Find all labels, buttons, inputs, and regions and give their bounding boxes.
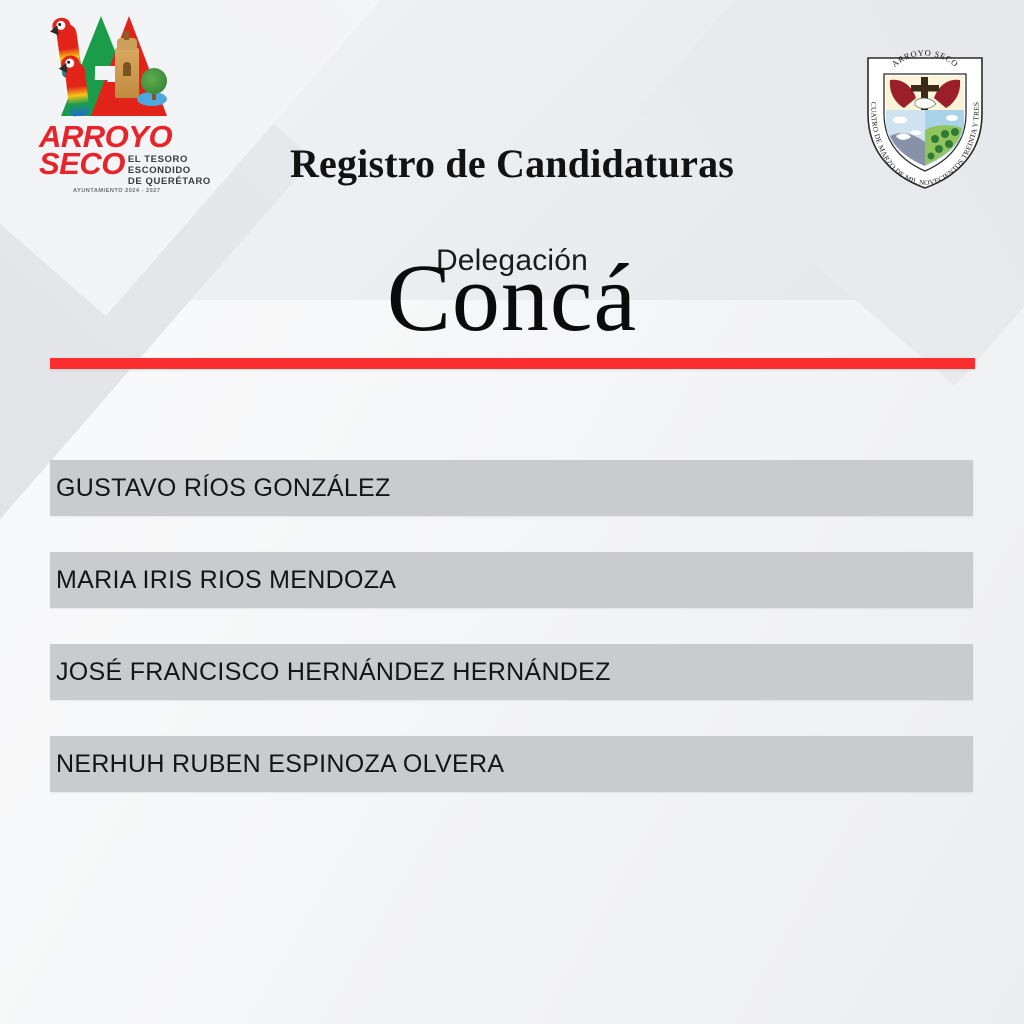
- red-divider: [50, 358, 975, 369]
- logo-administration-period: AYUNTAMIENTO 2024 - 2027: [73, 188, 193, 194]
- list-item: JOSÉ FRANCISCO HERNÁNDEZ HERNÁNDEZ: [50, 644, 973, 700]
- candidature-registry-poster: ARROYO SECO EL TESORO ESCONDIDO DE QUERÉ…: [0, 0, 1024, 1024]
- page-title: Registro de Candidaturas: [0, 140, 1024, 187]
- candidate-name: MARIA IRIS RIOS MENDOZA: [50, 566, 396, 595]
- list-item: NERHUH RUBEN ESPINOZA OLVERA: [50, 736, 973, 792]
- macaw-beak: [58, 63, 67, 74]
- arroyo-seco-a-emblem-icon: [53, 14, 173, 119]
- macaw-beak: [49, 25, 58, 36]
- candidate-name: GUSTAVO RÍOS GONZÁLEZ: [50, 474, 391, 503]
- list-item: MARIA IRIS RIOS MENDOZA: [50, 552, 973, 608]
- delegation-name: Concá: [0, 250, 1024, 346]
- tower-window: [123, 62, 131, 76]
- candidate-name: NERHUH RUBEN ESPINOZA OLVERA: [50, 750, 504, 779]
- tree-crown-icon: [141, 68, 167, 94]
- list-item: GUSTAVO RÍOS GONZÁLEZ: [50, 460, 973, 516]
- candidate-name: JOSÉ FRANCISCO HERNÁNDEZ HERNÁNDEZ: [50, 658, 611, 687]
- church-tower-icon: [115, 48, 139, 98]
- candidate-list: GUSTAVO RÍOS GONZÁLEZ MARIA IRIS RIOS ME…: [50, 460, 973, 828]
